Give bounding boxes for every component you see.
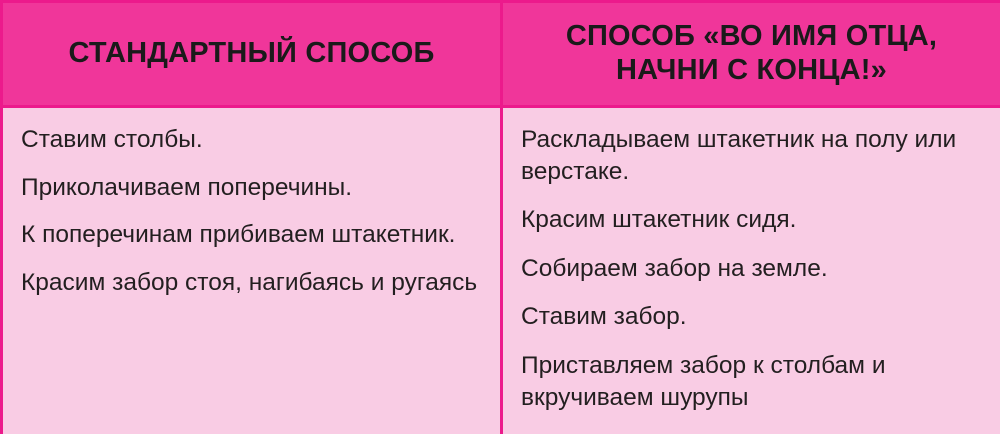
list-item: Приставляем забор к столбам и вкручиваем… [521, 350, 982, 413]
table-body: Ставим столбы. Приколачиваем поперечины.… [2, 107, 1000, 434]
cell-reverse-method-steps: Раскладываем штакетник на полу или верст… [502, 107, 1000, 434]
column-header-standard-method-label: СТАНДАРТНЫЙ СПОСОБ [17, 37, 486, 71]
list-item: Ставим столбы. [21, 124, 482, 156]
comparison-table-container: СТАНДАРТНЫЙ СПОСОБ СПОСОБ «ВО ИМЯ ОТЦА, … [0, 0, 1000, 434]
list-item: Красим забор стоя, нагибаясь и ругаясь [21, 267, 482, 299]
list-item: К поперечинам прибиваем штакетник. [21, 219, 482, 251]
standard-method-step-list: Ставим столбы. Приколачиваем поперечины.… [21, 124, 482, 298]
reverse-method-step-list: Раскладываем штакетник на полу или верст… [521, 124, 982, 413]
cell-standard-method-steps: Ставим столбы. Приколачиваем поперечины.… [2, 107, 502, 434]
list-item: Приколачиваем поперечины. [21, 172, 482, 204]
list-item: Раскладываем штакетник на полу или верст… [521, 124, 982, 187]
column-header-reverse-method: СПОСОБ «ВО ИМЯ ОТЦА, НАЧНИ С КОНЦА!» [502, 2, 1000, 107]
list-item: Красим штакетник сидя. [521, 204, 982, 236]
list-item: Собираем забор на земле. [521, 253, 982, 285]
column-header-reverse-method-label: СПОСОБ «ВО ИМЯ ОТЦА, НАЧНИ С КОНЦА!» [517, 20, 986, 88]
method-comparison-table: СТАНДАРТНЫЙ СПОСОБ СПОСОБ «ВО ИМЯ ОТЦА, … [0, 0, 1000, 434]
list-item: Ставим забор. [521, 301, 982, 333]
body-row: Ставим столбы. Приколачиваем поперечины.… [2, 107, 1000, 434]
header-row: СТАНДАРТНЫЙ СПОСОБ СПОСОБ «ВО ИМЯ ОТЦА, … [2, 2, 1000, 107]
column-header-standard-method: СТАНДАРТНЫЙ СПОСОБ [2, 2, 502, 107]
table-header: СТАНДАРТНЫЙ СПОСОБ СПОСОБ «ВО ИМЯ ОТЦА, … [2, 2, 1000, 107]
